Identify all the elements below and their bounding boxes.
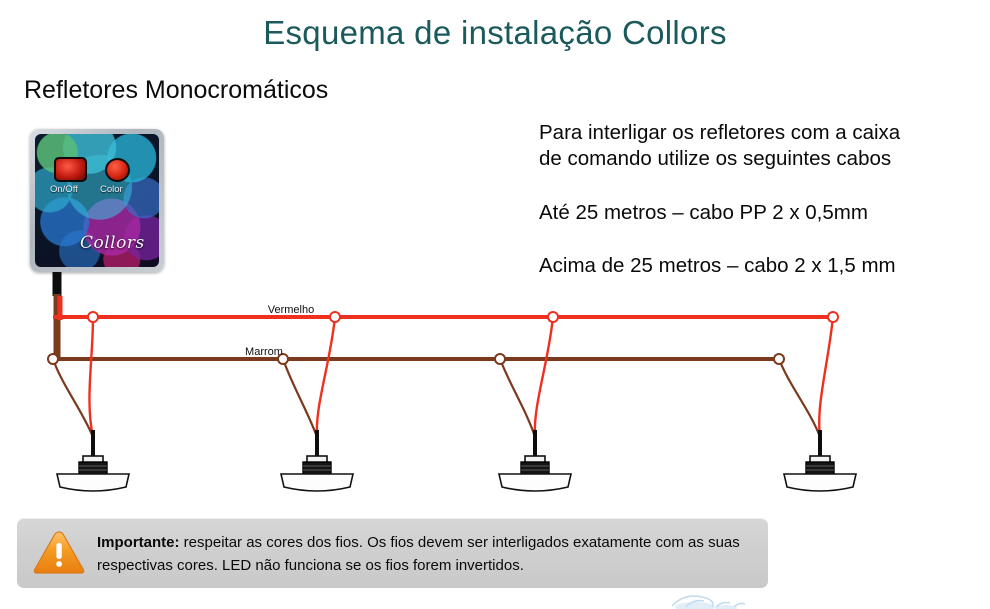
instruction-cable-up-to-25m: Até 25 metros – cabo PP 2 x 0,5mm xyxy=(539,200,979,226)
onoff-button-label: On/Off xyxy=(50,184,78,195)
onoff-rocker-switch[interactable] xyxy=(54,157,87,182)
warning-triangle-icon xyxy=(31,528,87,578)
brown-wire-label: Marrom xyxy=(245,346,283,358)
important-note-box: Importante: respeitar as cores dos fios.… xyxy=(17,518,768,588)
red-drop-wire-2 xyxy=(317,317,335,437)
color-button-label: Color xyxy=(100,184,123,195)
light-fixture-4 xyxy=(784,456,856,491)
red-drop-wire-4 xyxy=(819,317,833,437)
control-box-faceplate: On/Off Color Collors xyxy=(35,134,159,267)
red-wire-label: Vermelho xyxy=(268,304,314,316)
brown-drop-wire-3 xyxy=(500,359,535,437)
red-drop-wire-3 xyxy=(535,317,553,437)
instruction-cable-above-25m: Acima de 25 metros – cabo 2 x 1,5 mm xyxy=(539,253,979,279)
light-fixture-3 xyxy=(499,456,571,491)
important-note-text: Importante: respeitar as cores dos fios.… xyxy=(97,531,757,577)
color-button[interactable] xyxy=(105,158,130,182)
light-fixture-1 xyxy=(57,456,129,491)
red-junction-node-3 xyxy=(548,312,558,322)
control-box-brand-logo: Collors xyxy=(80,233,145,253)
brown-junction-node-2 xyxy=(278,354,288,364)
red-junction-node-1 xyxy=(88,312,98,322)
note-body: respeitar as cores dos fios. Os fios dev… xyxy=(97,534,740,574)
note-strong-label: Importante: xyxy=(97,534,180,551)
brown-junction-node-4 xyxy=(774,354,784,364)
instructions-block: Para interligar os refletores com a caix… xyxy=(539,120,979,279)
section-subtitle: Refletores Monocromáticos xyxy=(24,76,328,105)
instruction-intro: Para interligar os refletores com a caix… xyxy=(539,120,979,172)
brown-drop-wire-2 xyxy=(283,359,317,437)
light-fixture-2 xyxy=(281,456,353,491)
bottom-watermark-logo xyxy=(0,588,990,609)
brown-drop-wire-1 xyxy=(53,359,93,437)
red-junction-node-2 xyxy=(330,312,340,322)
brown-junction-node-1 xyxy=(48,354,58,364)
page-title: Esquema de instalação Collors xyxy=(0,14,990,52)
control-box: On/Off Color Collors xyxy=(30,129,164,272)
brown-drop-wire-4 xyxy=(779,359,820,437)
red-junction-node-4 xyxy=(828,312,838,322)
brown-junction-node-3 xyxy=(495,354,505,364)
red-drop-wire-1 xyxy=(89,317,93,437)
